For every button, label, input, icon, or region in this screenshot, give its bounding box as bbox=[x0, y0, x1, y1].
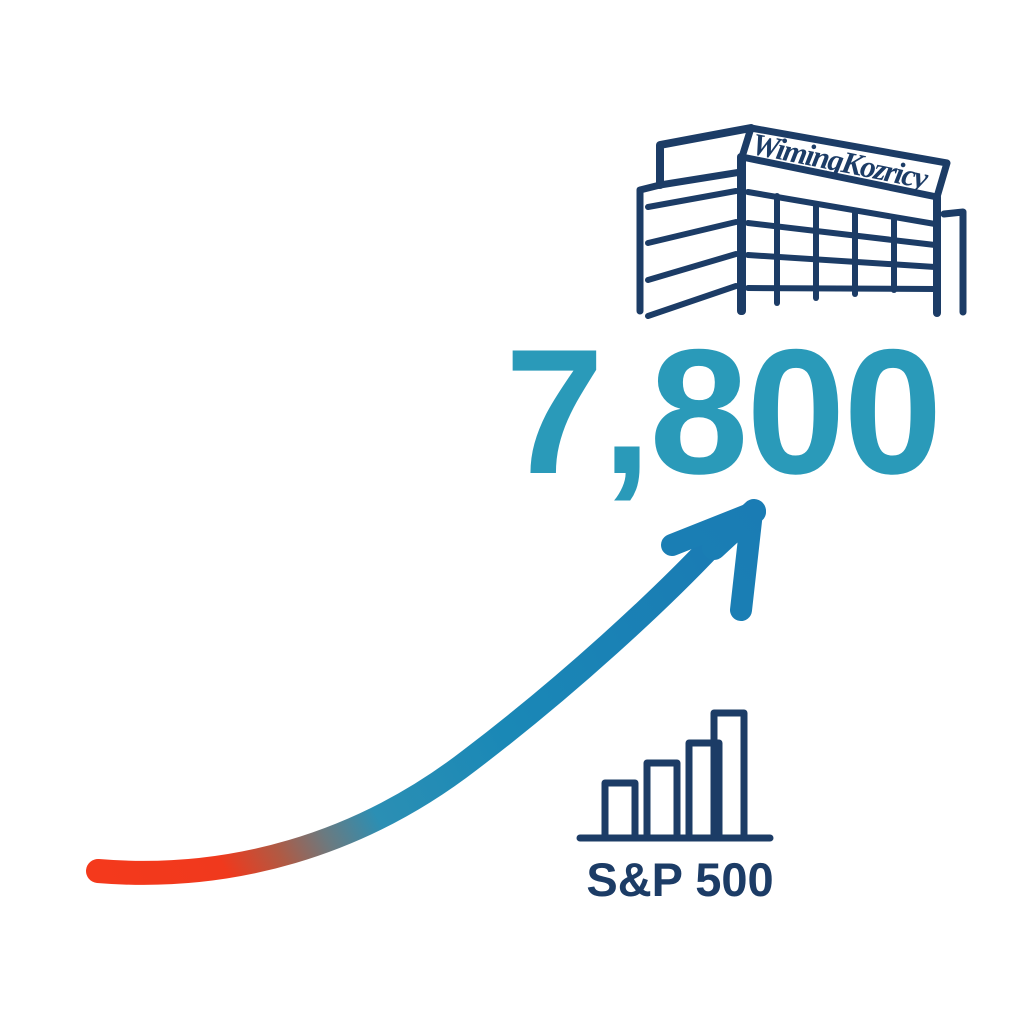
bar-chart-icon bbox=[580, 713, 770, 838]
bar-2 bbox=[647, 763, 677, 838]
bar-1 bbox=[605, 783, 635, 838]
building-left-wing bbox=[640, 128, 751, 316]
headline-value: 7,800 bbox=[505, 332, 925, 492]
index-label: S&P 500 bbox=[560, 852, 800, 908]
growth-arrow bbox=[98, 511, 755, 873]
infographic-canvas: WimingKozricy 7,800 S&P 500 bbox=[0, 0, 1024, 1024]
